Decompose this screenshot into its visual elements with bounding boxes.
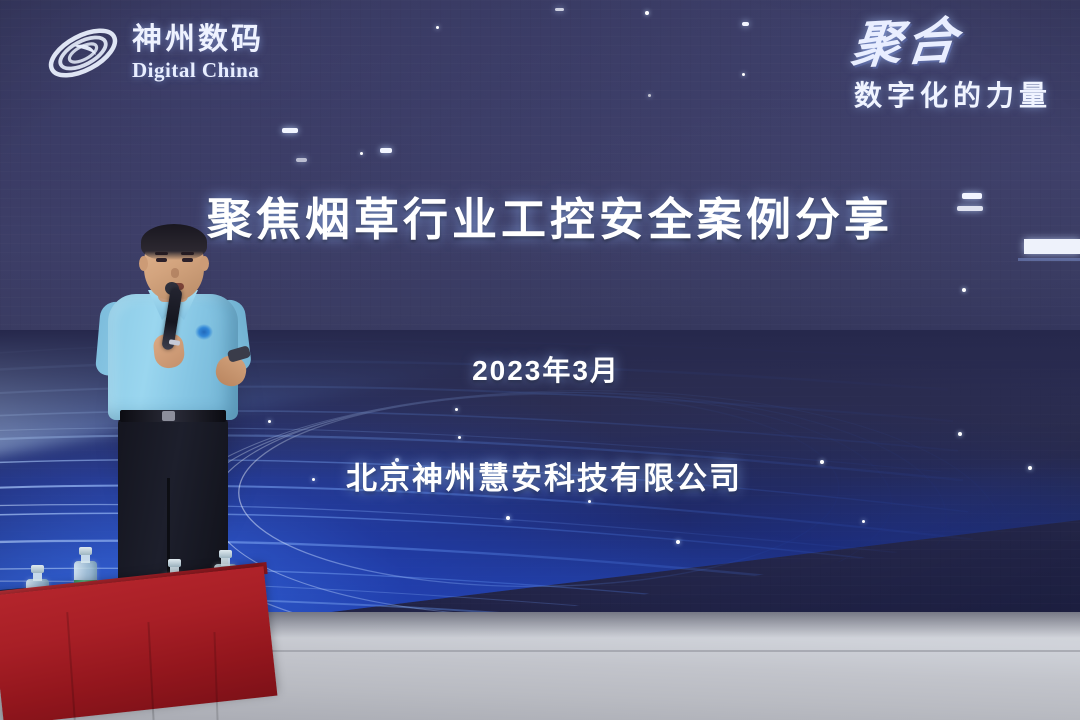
particle-streak [282, 128, 298, 133]
particle-dot [455, 408, 458, 411]
logo-english: Digital China [132, 60, 264, 81]
particle-dot [645, 11, 649, 15]
shirt-logo-icon [195, 324, 213, 340]
presenter-belt-buckle [162, 411, 175, 421]
particle-dot [458, 436, 461, 439]
particle-streak [742, 22, 749, 26]
particle-dot [648, 94, 651, 97]
conference-stage-photo: 神州数码 Digital China 聚合 数字化的力量 聚焦烟草行业工控安全案… [0, 0, 1080, 720]
screen-edge-bar-thin [1018, 258, 1080, 261]
slogan-calligraphy: 聚合 [849, 15, 963, 71]
presenter-eye-left [156, 258, 167, 262]
presenter-hair [141, 224, 207, 260]
presenter-ear-right [200, 256, 209, 271]
digital-china-logo: 神州数码 Digital China [44, 22, 264, 84]
particle-dot [436, 26, 439, 29]
event-slogan: 聚合 数字化的力量 [852, 18, 1052, 114]
presenter-nose [171, 268, 179, 278]
particle-dot [588, 500, 591, 503]
swirl-galaxy-icon [44, 22, 122, 84]
slogan-subtext: 数字化的力量 [852, 74, 1052, 114]
red-table-drape [0, 566, 277, 720]
presenter-eye-right [182, 258, 193, 262]
bottle-cap [31, 565, 44, 573]
logo-chinese: 神州数码 [132, 25, 264, 55]
particle-dot [676, 540, 680, 544]
particle-dot [360, 152, 363, 155]
particle-dot [742, 73, 745, 76]
bottle-cap [219, 550, 232, 558]
presenter-ear-left [139, 256, 148, 271]
logo-text: 神州数码 Digital China [132, 25, 264, 81]
particle-dot [962, 288, 966, 292]
particle-streak [380, 148, 392, 153]
particle-streak [555, 8, 564, 11]
presenter-brow-left [155, 252, 168, 255]
bottle-cap [79, 547, 92, 555]
particle-streak [296, 158, 307, 162]
bottle-cap [168, 559, 181, 567]
particle-dot [958, 432, 962, 436]
presenter-brow-right [181, 252, 194, 255]
particle-dot [862, 520, 865, 523]
particle-dot [506, 516, 510, 520]
